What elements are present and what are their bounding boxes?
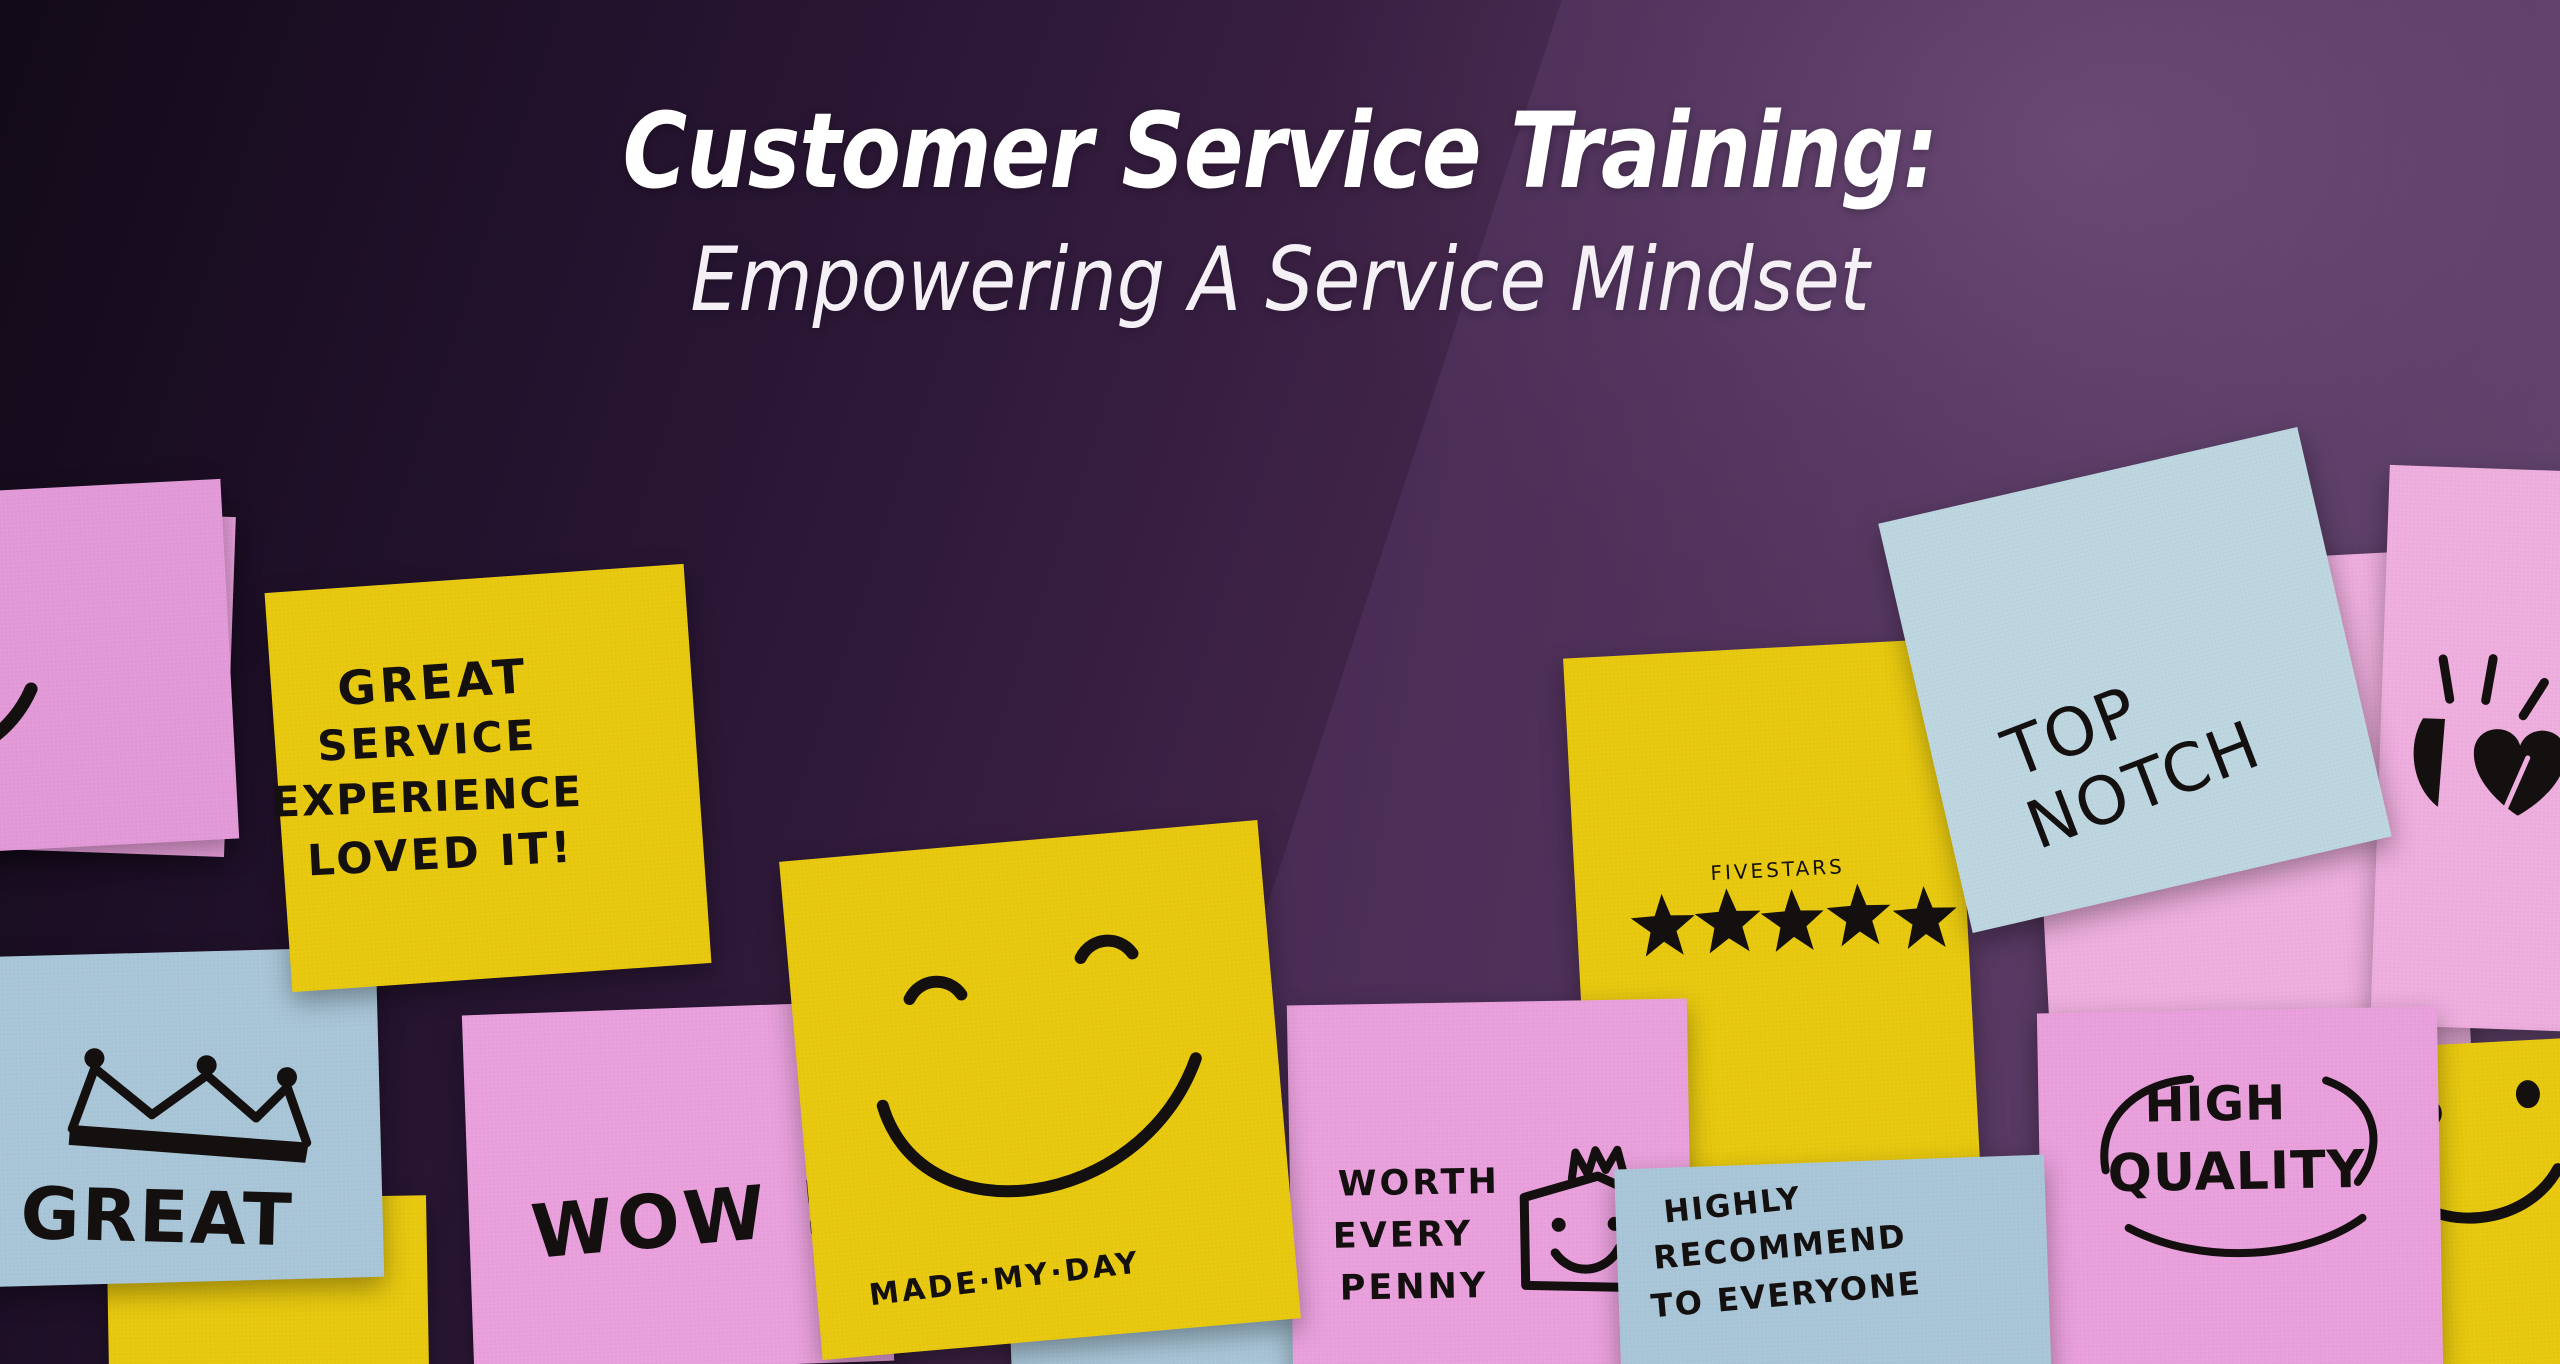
note-great-service: GREAT SERVICE EXPERIENCE LOVED IT! bbox=[265, 564, 712, 992]
five-stars-icon bbox=[1629, 876, 1962, 963]
note-made-my-day: MADE·MY·DAY bbox=[779, 820, 1301, 1360]
note-line: WORTH bbox=[1338, 1162, 1501, 1205]
poster-canvas: GREAT SERVICE EXPERIENCE LOVED IT! GREAT… bbox=[0, 0, 2560, 1364]
note-line: GREAT bbox=[336, 649, 531, 717]
note-line: QUALITY bbox=[2107, 1140, 2366, 1204]
note-line: HIGHLY bbox=[1662, 1180, 1803, 1230]
note-pink-smiley-left bbox=[0, 479, 239, 857]
note-line: FIVESTARS bbox=[1710, 854, 1845, 885]
note-highly-recommend: HIGHLY RECOMMEND TO EVERYONE bbox=[1614, 1155, 2052, 1364]
note-high-quality: HIGH QUALITY bbox=[2037, 1007, 2443, 1364]
page-subtitle: Empowering A Service Mindset bbox=[51, 232, 2509, 329]
page-title: Customer Service Training: bbox=[77, 96, 2483, 206]
headline-block: Customer Service Training: Empowering A … bbox=[0, 96, 2560, 329]
smiley-face-icon bbox=[781, 840, 1296, 1300]
note-line: EVERY bbox=[1332, 1214, 1473, 1256]
note-line: PENNY bbox=[1339, 1266, 1488, 1309]
smiley-face-icon bbox=[0, 479, 239, 857]
heart-sparkle-icon bbox=[2400, 646, 2560, 884]
note-line: EXPERIENCE bbox=[270, 767, 583, 827]
note-great-crown: GREAT bbox=[0, 947, 384, 1287]
note-line: GREAT bbox=[20, 1171, 295, 1262]
note-line: HIGH bbox=[2144, 1075, 2287, 1133]
note-pink-heart-right bbox=[2370, 465, 2560, 1035]
note-line: SERVICE bbox=[316, 710, 538, 770]
note-line: LOVED IT! bbox=[306, 823, 575, 887]
